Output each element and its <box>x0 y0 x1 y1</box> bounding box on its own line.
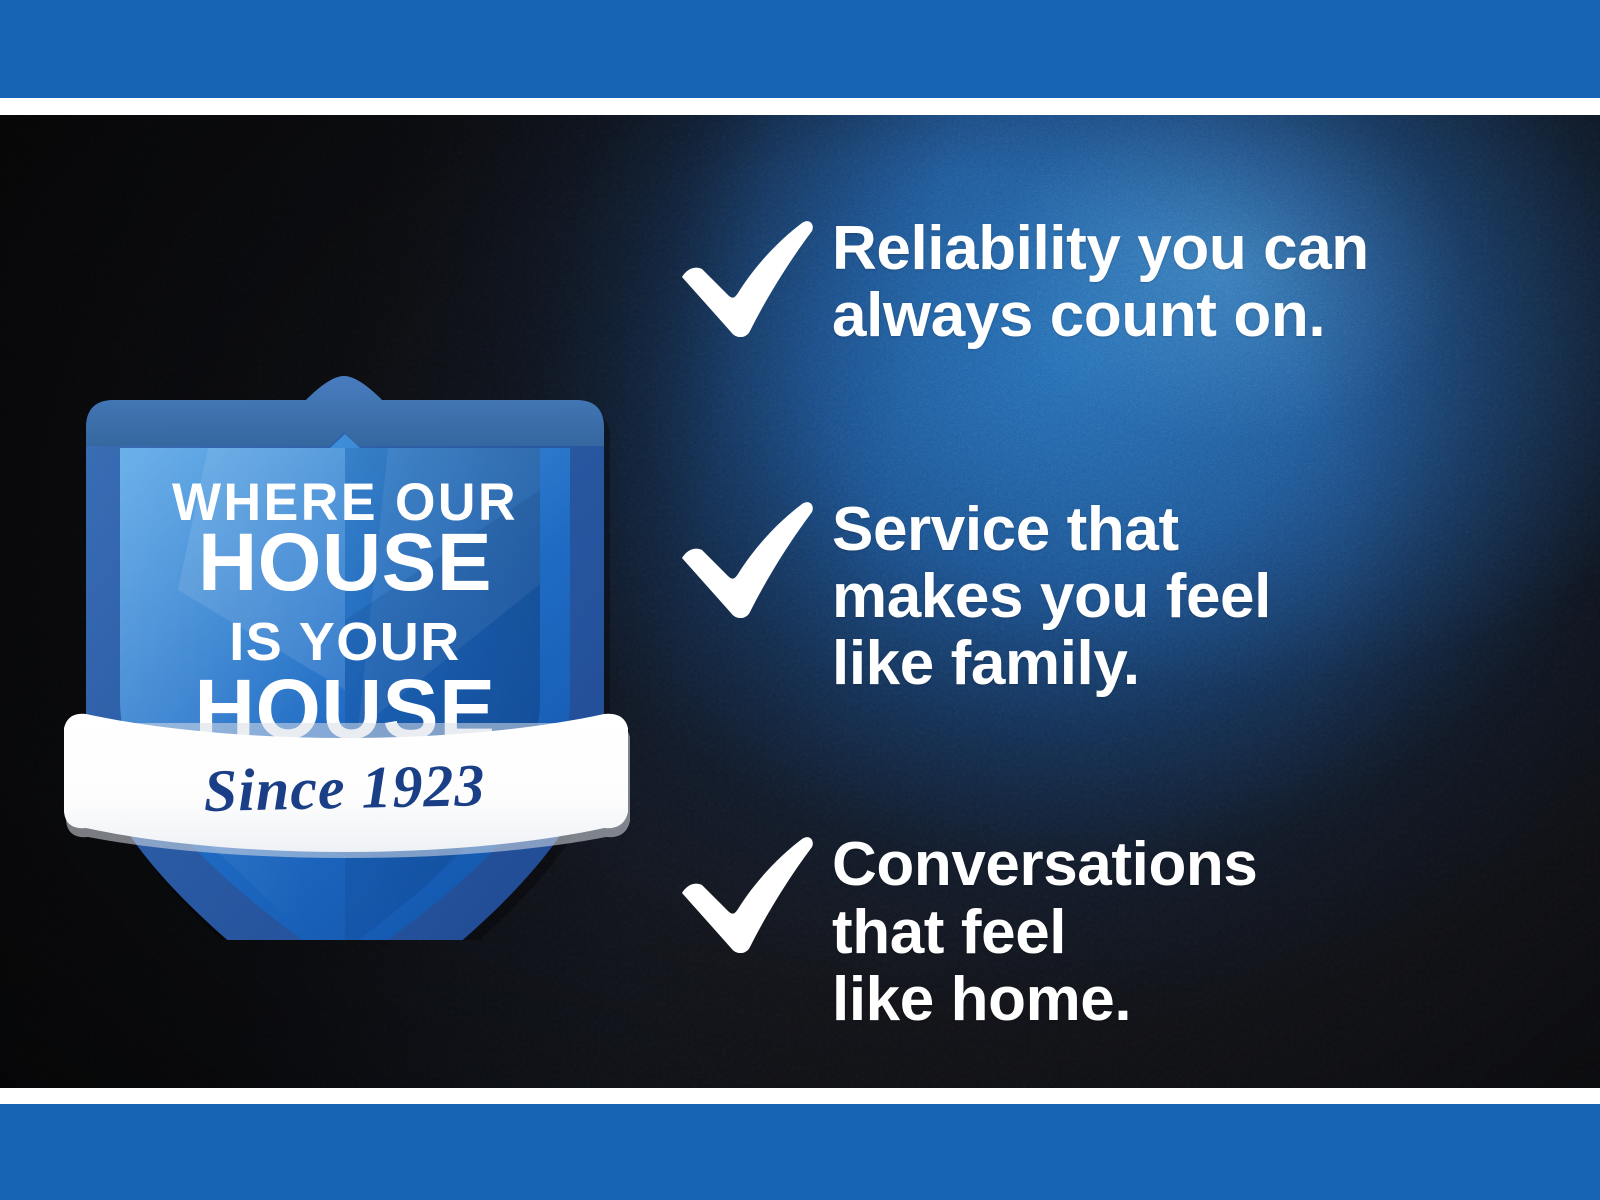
check-icon <box>672 496 820 618</box>
bottom-blue-bar <box>0 1104 1600 1200</box>
promo-graphic: WHERE OUR HOUSE IS YOUR HOUSE Since 1923… <box>0 0 1600 1200</box>
benefits-list: Reliability you can always count on. Ser… <box>672 215 1492 1033</box>
benefit-item-1: Reliability you can always count on. <box>672 215 1492 350</box>
benefit-item-3: Conversations that feel like home. <box>672 831 1492 1033</box>
top-white-stripe <box>0 98 1600 115</box>
check-icon <box>672 831 820 953</box>
bottom-white-stripe <box>0 1088 1600 1104</box>
shield-line-2: HOUSE <box>198 517 492 608</box>
shield-logo: WHERE OUR HOUSE IS YOUR HOUSE Since 1923 <box>58 260 638 940</box>
benefit-text-2: Service that makes you feel like family. <box>832 496 1492 698</box>
ribbon-text: Since 1923 <box>203 752 486 824</box>
top-blue-bar <box>0 0 1600 98</box>
benefit-text-1: Reliability you can always count on. <box>832 215 1492 350</box>
benefit-text-3: Conversations that feel like home. <box>832 831 1492 1033</box>
benefit-item-2: Service that makes you feel like family. <box>672 496 1492 698</box>
main-canvas: WHERE OUR HOUSE IS YOUR HOUSE Since 1923… <box>0 115 1600 1088</box>
check-icon <box>672 215 820 337</box>
